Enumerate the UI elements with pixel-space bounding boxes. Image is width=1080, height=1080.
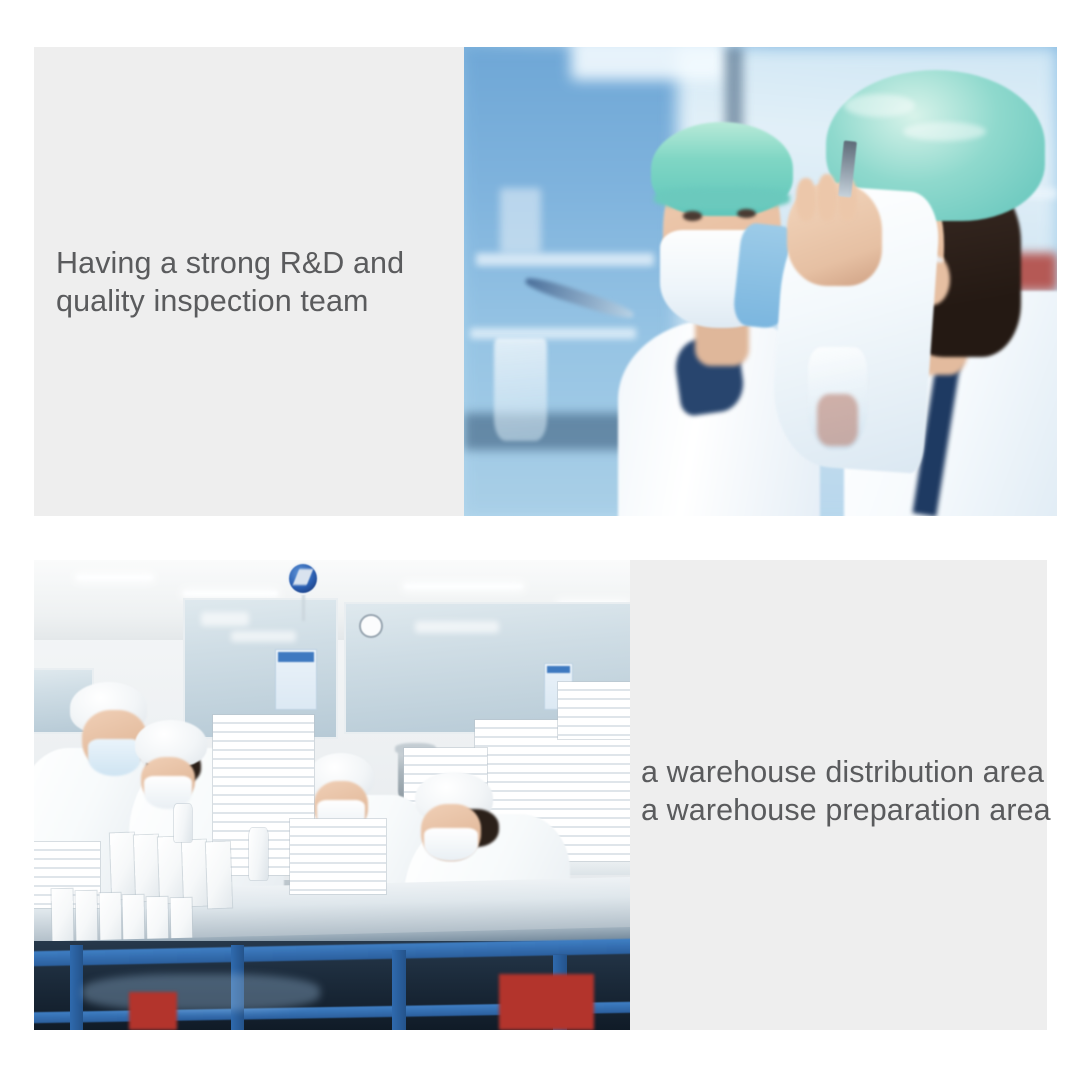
carton-front-2	[75, 891, 97, 943]
lab-shelf-1	[476, 253, 654, 265]
carton-row-2	[134, 835, 160, 902]
technician-2-hair-net-fold-2	[903, 122, 986, 141]
carton-stack-center-low	[290, 819, 385, 894]
ceiling-light-tube-1	[76, 575, 153, 580]
table-leg-3	[392, 950, 406, 1030]
rnd-caption-line-1: Having a strong R&D and	[56, 244, 404, 282]
bottle-on-table-2	[174, 804, 192, 842]
lab-beaker	[494, 338, 547, 441]
technician-1-eye-left	[683, 211, 702, 220]
sign-hanger-pole	[302, 593, 305, 621]
warehouse-caption-line-1: a warehouse distribution area	[641, 753, 1044, 791]
warehouse-caption-line-2: a warehouse preparation area	[641, 791, 1051, 829]
technician-1-eye-right	[737, 209, 756, 218]
carton-row-1	[110, 832, 136, 899]
technician-2-finger-1	[796, 178, 816, 220]
bottle-on-table-1	[249, 828, 268, 880]
technician-1-hair-net-band	[654, 188, 790, 209]
wall-clock-icon	[359, 614, 383, 638]
table-leg-1	[70, 945, 83, 1030]
lab-equipment-post	[725, 47, 743, 131]
worker-4-face-mask	[424, 828, 478, 861]
cleanroom-window-glare-2	[231, 631, 297, 642]
lab-inspection-photo	[464, 47, 1057, 516]
cleanroom-window-glare-1	[201, 612, 249, 626]
lab-shelf-2	[470, 328, 636, 338]
carton-row-4	[182, 839, 208, 906]
carton-front-3	[99, 893, 121, 945]
carton-stack-back-far	[558, 682, 630, 738]
warehouse-packing-photo	[34, 560, 630, 1030]
red-cart	[129, 992, 177, 1030]
technician-2-finger-2	[817, 174, 837, 221]
lab-ceiling-light	[571, 47, 725, 80]
carton-front-1	[51, 889, 73, 941]
worker-1-face-mask	[88, 739, 142, 777]
floor-reflection	[82, 974, 320, 1012]
technician-2-hair-net-fold-1	[844, 94, 915, 117]
lab-glassware-left	[500, 188, 542, 254]
ceiling-light-tube-3	[404, 584, 523, 590]
sample-vial-liquid	[817, 394, 859, 446]
red-equipment-under-table	[499, 974, 594, 1030]
cleanroom-window-glare-3	[415, 621, 498, 633]
carton-row-3	[158, 837, 184, 904]
ceiling-light-tube-2	[183, 591, 278, 596]
rnd-caption-line-2: quality inspection team	[56, 282, 369, 320]
carton-row-5	[206, 842, 232, 909]
wall-notice-poster-left-header	[278, 652, 314, 661]
wall-notice-poster-right-header	[547, 666, 571, 674]
